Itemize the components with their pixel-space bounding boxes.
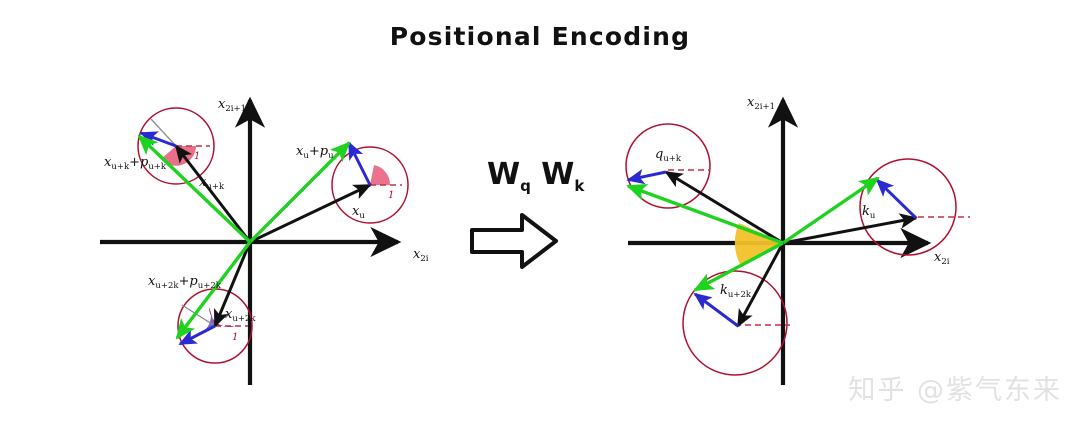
left-label-x-plus-p-u: xu+pu [296,144,334,161]
right-circle-q-u-plus-k [626,124,710,208]
left-arrow-p-u [349,143,370,185]
transform-label: Wq Wk [487,157,585,195]
right-x-axis-label: x2i [934,250,950,267]
left-unit-label-x-u-plus-2k: 1 [232,332,238,343]
right-label-k-u-plus-2k: ku+2k [720,283,752,300]
right-label-k-u: ku [862,204,876,221]
left-label-x-u-plus-k: xu+k [199,175,225,192]
transform-annotation: Wq Wk [472,157,585,267]
figure-svg: x2i x2i+1 1 xu xu+pu [0,0,1080,429]
left-label-x-plus-p-u-plus-2k: xu+2k+pu+2k [148,274,222,291]
right-arrow-delta-q-u-plus-k [628,172,666,180]
left-unit-label-x-u-plus-k: 1 [194,151,200,162]
left-arrow-x-u-plus-k [176,146,250,242]
diagram-canvas: Positional Encoding x2i x2i+ [0,0,1080,429]
left-vector-group-x-u-plus-k: 1 xu+k xu+k+pu+k [104,108,250,242]
right-vector-group-k-u: ku [783,159,970,255]
left-axes: x2i x2i+1 [100,97,429,385]
right-arrow-delta-k-u [877,180,916,218]
right-y-axis-label: x2i+1 [747,95,775,112]
right-vector-group-k-u-plus-2k: ku+2k [683,243,790,375]
left-vector-group-x-u-plus-2k: 1 xu+2k xu+2k+pu+2k [148,242,256,363]
left-label-x-plus-p-u-plus-k: xu+k+pu+k [104,155,167,172]
left-angle-wedge-x-u [370,165,390,185]
block-arrow-right-icon [472,215,556,267]
left-y-axis-label: x2i+1 [218,97,246,114]
watermark: 知乎 @紫气东来 [848,368,1062,407]
left-unit-label-x-u: 1 [388,190,394,201]
right-vector-group-q-u-plus-k: qu+k [626,124,783,243]
left-label-x-u: xu [352,204,365,221]
left-vector-group-x-u: 1 xu xu+pu [250,143,408,242]
left-x-axis-label: x2i [413,247,429,264]
right-label-q-u-plus-k: qu+k [655,147,682,164]
right-circle-k-u [860,159,956,255]
